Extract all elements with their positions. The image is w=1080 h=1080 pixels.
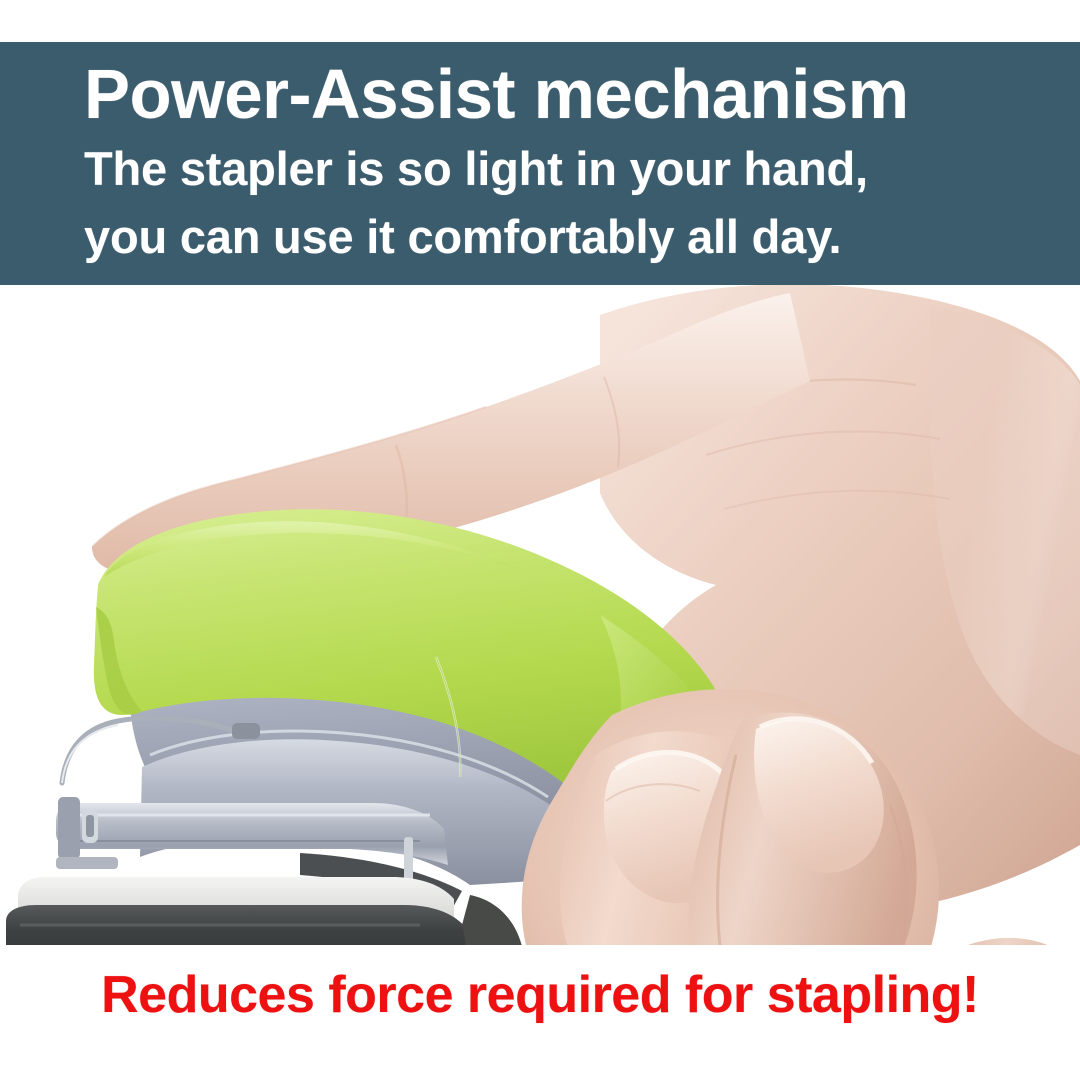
- promo-banner-page: Power-Assist mechanism The stapler is so…: [0, 0, 1080, 1080]
- page-title: Power-Assist mechanism: [84, 42, 1065, 132]
- magazine-foot: [56, 857, 118, 869]
- banner-subtitle-line-1: The stapler is so light in your hand,: [84, 132, 1080, 200]
- banner-subtitle-line-2: you can use it comfortably all day.: [84, 200, 1080, 268]
- magazine-latch-inner: [86, 815, 94, 837]
- magazine-body: [56, 803, 448, 865]
- folded-finger-lower-4: [946, 938, 1080, 945]
- metal-clip: [232, 723, 260, 739]
- footer-caption: Reduces force required for stapling!: [0, 965, 1080, 1025]
- stapler-magazine: [56, 797, 448, 869]
- magazine-end-cap: [58, 797, 80, 859]
- header-banner: Power-Assist mechanism The stapler is so…: [0, 42, 1080, 285]
- product-photo: [0, 285, 1080, 945]
- stapler-in-hand-illustration: [0, 285, 1080, 945]
